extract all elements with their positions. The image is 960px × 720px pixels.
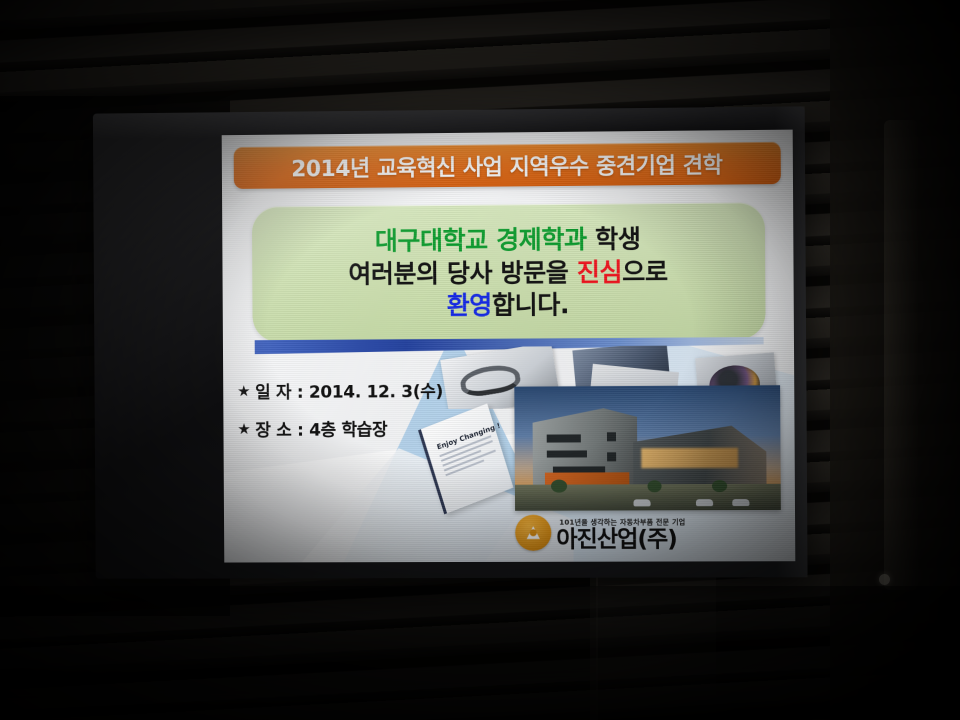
scene-vignette bbox=[0, 0, 960, 720]
photo-scene: 2014년 교육혁신 사업 지역우수 중견기업 견학 대구대학교 경제학과 학생… bbox=[0, 0, 960, 720]
